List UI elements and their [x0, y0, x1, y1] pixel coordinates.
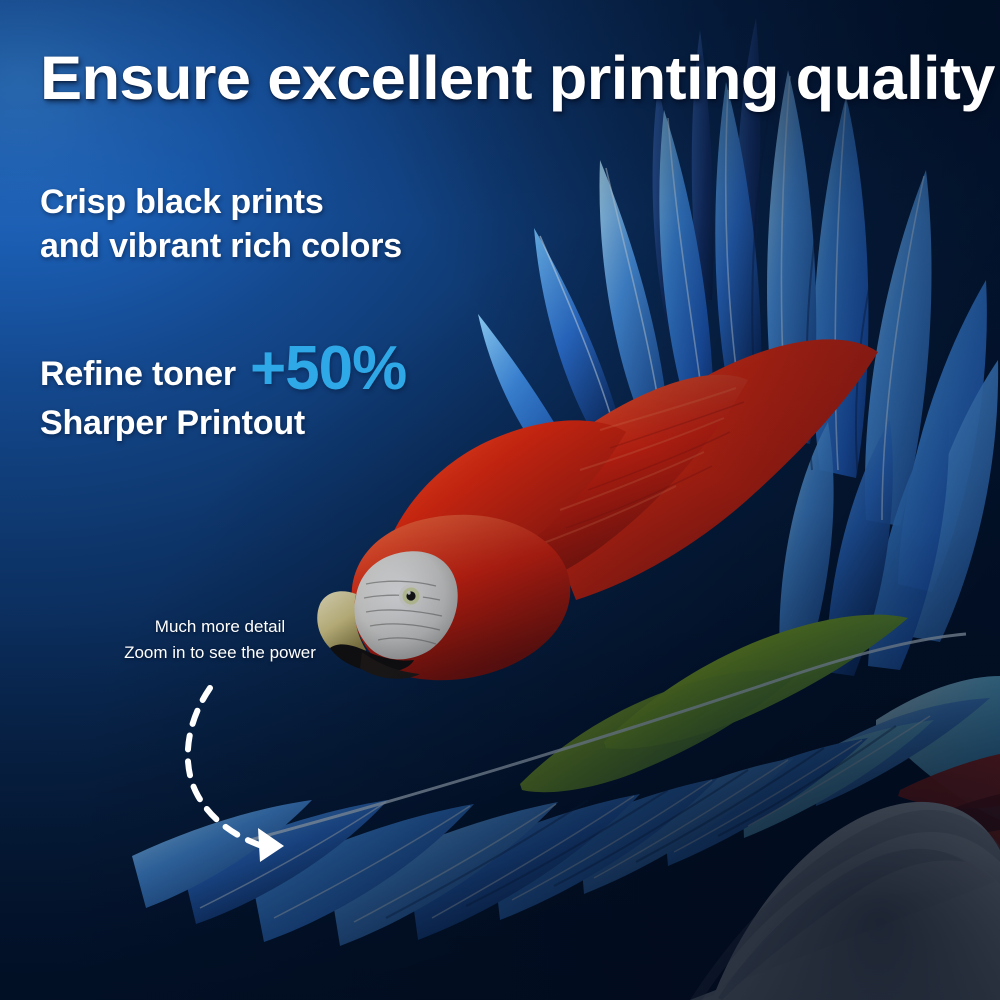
marketing-banner: Ensure excellent printing quality Crisp … [0, 0, 1000, 1000]
zoom-annotation-line-1: Much more detail [92, 614, 348, 640]
promo-row: Refine toner +50% [40, 334, 406, 396]
feature-subhead-line-1: Crisp black prints [40, 181, 402, 225]
promo-value-badge: +50% [250, 338, 406, 400]
feature-subhead: Crisp black prints and vibrant rich colo… [40, 181, 402, 268]
zoom-annotation: Much more detail Zoom in to see the powe… [92, 614, 348, 666]
feature-subhead-line-2: and vibrant rich colors [40, 225, 402, 269]
page-title: Ensure excellent printing quality [40, 47, 1000, 110]
promo-subline: Sharper Printout [40, 404, 305, 443]
zoom-annotation-line-2: Zoom in to see the power [92, 640, 348, 666]
promo-label: Refine toner [40, 355, 236, 394]
background-vignette [0, 0, 1000, 1000]
